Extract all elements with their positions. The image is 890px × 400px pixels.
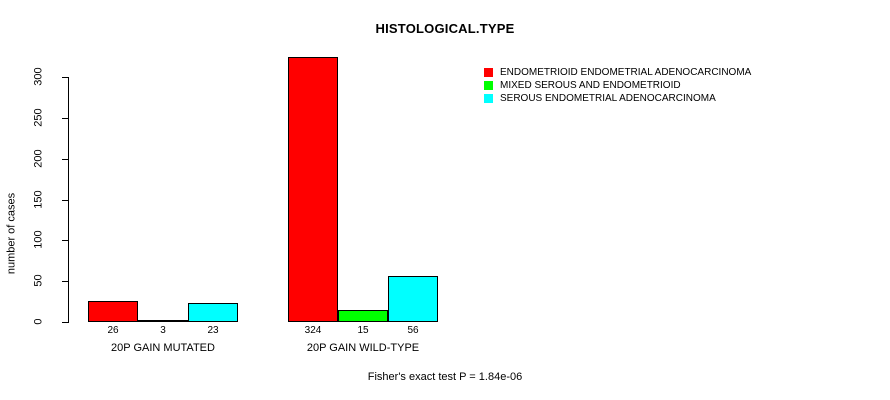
y-axis-tick bbox=[62, 322, 68, 323]
group-axis-label: 20P GAIN MUTATED bbox=[48, 342, 278, 354]
legend-color-swatch bbox=[484, 68, 493, 77]
y-axis-tick bbox=[62, 159, 68, 160]
bar-value-label: 324 bbox=[288, 326, 338, 336]
y-axis-tick-label: 250 bbox=[34, 102, 45, 132]
bar-value-label: 26 bbox=[88, 326, 138, 336]
bar-value-label: 15 bbox=[338, 326, 388, 336]
y-axis-tick-label: 100 bbox=[34, 225, 45, 255]
group-axis-label: 20P GAIN WILD-TYPE bbox=[248, 342, 478, 354]
bar-value-label: 23 bbox=[188, 326, 238, 336]
legend-item-label: MIXED SEROUS AND ENDOMETRIOID bbox=[500, 81, 681, 91]
legend-item-label: SEROUS ENDOMETRIAL ADENOCARCINOMA bbox=[500, 94, 716, 104]
y-axis-tick bbox=[62, 77, 68, 78]
legend-color-swatch bbox=[484, 94, 493, 103]
legend-item: SEROUS ENDOMETRIAL ADENOCARCINOMA bbox=[484, 92, 751, 105]
bar bbox=[88, 301, 138, 322]
chart-canvas: HISTOLOGICAL.TYPE 050100150200250300 num… bbox=[0, 0, 890, 400]
statistical-annotation: Fisher's exact test P = 1.84e-06 bbox=[0, 371, 890, 383]
legend-color-swatch bbox=[484, 81, 493, 90]
bar bbox=[138, 320, 188, 322]
bar bbox=[388, 276, 438, 322]
y-axis-line bbox=[68, 77, 69, 323]
chart-title: HISTOLOGICAL.TYPE bbox=[0, 21, 890, 36]
y-axis-tick-label: 0 bbox=[34, 307, 45, 337]
bar bbox=[338, 310, 388, 322]
chart-legend: ENDOMETRIOID ENDOMETRIAL ADENOCARCINOMAM… bbox=[484, 66, 751, 105]
legend-item: ENDOMETRIOID ENDOMETRIAL ADENOCARCINOMA bbox=[484, 66, 751, 79]
bar-value-label: 3 bbox=[138, 326, 188, 336]
y-axis-tick bbox=[62, 281, 68, 282]
legend-item-label: ENDOMETRIOID ENDOMETRIAL ADENOCARCINOMA bbox=[500, 68, 751, 78]
y-axis-title: number of cases bbox=[7, 174, 18, 294]
y-axis-tick-label: 300 bbox=[34, 62, 45, 92]
bar-value-label: 56 bbox=[388, 326, 438, 336]
bar bbox=[188, 303, 238, 322]
y-axis-tick-label: 50 bbox=[34, 266, 45, 296]
y-axis-tick bbox=[62, 240, 68, 241]
y-axis-tick-label: 150 bbox=[34, 184, 45, 214]
bar bbox=[288, 57, 338, 322]
y-axis-tick bbox=[62, 118, 68, 119]
legend-item: MIXED SEROUS AND ENDOMETRIOID bbox=[484, 79, 751, 92]
y-axis-tick-label: 200 bbox=[34, 143, 45, 173]
y-axis-tick bbox=[62, 200, 68, 201]
